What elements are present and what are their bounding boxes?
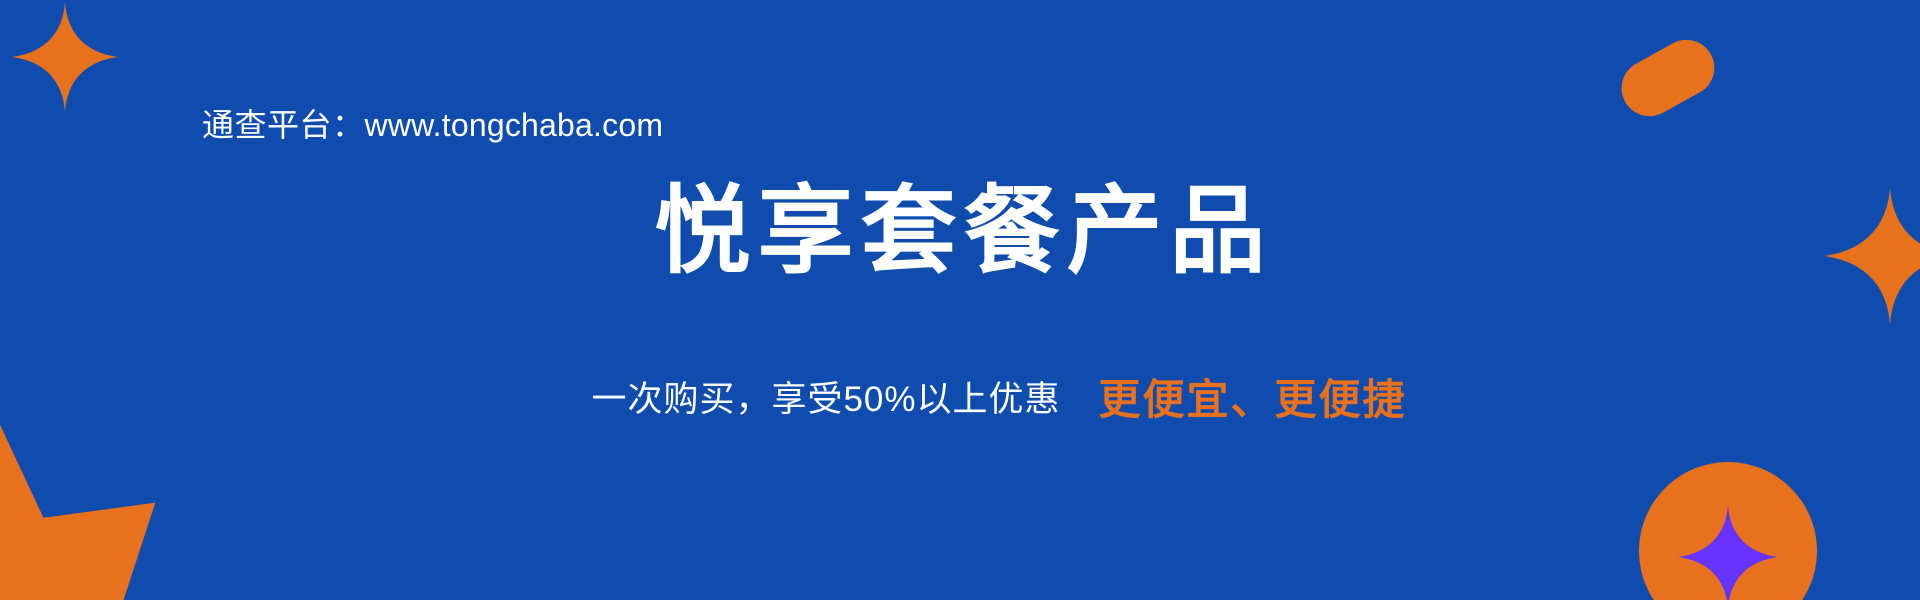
subtitle-highlight: 更便宜、更便捷 xyxy=(1099,376,1407,423)
page-title: 悦享套餐产品 xyxy=(0,178,1920,286)
platform-url: www.tongchaba.com xyxy=(365,107,664,143)
subtitle-text: 一次购买，享受50%以上优惠 xyxy=(591,380,1060,419)
platform-line: 通查平台：www.tongchaba.com xyxy=(202,100,663,146)
banner-content: 通查平台：www.tongchaba.com 悦享套餐产品 一次购买，享受50%… xyxy=(0,0,1920,600)
promo-banner: 通查平台：www.tongchaba.com 悦享套餐产品 一次购买，享受50%… xyxy=(0,0,1920,600)
subtitle-row: 一次购买，享受50%以上优惠更便宜、更便捷 xyxy=(0,366,1920,427)
platform-label: 通查平台： xyxy=(202,107,365,143)
